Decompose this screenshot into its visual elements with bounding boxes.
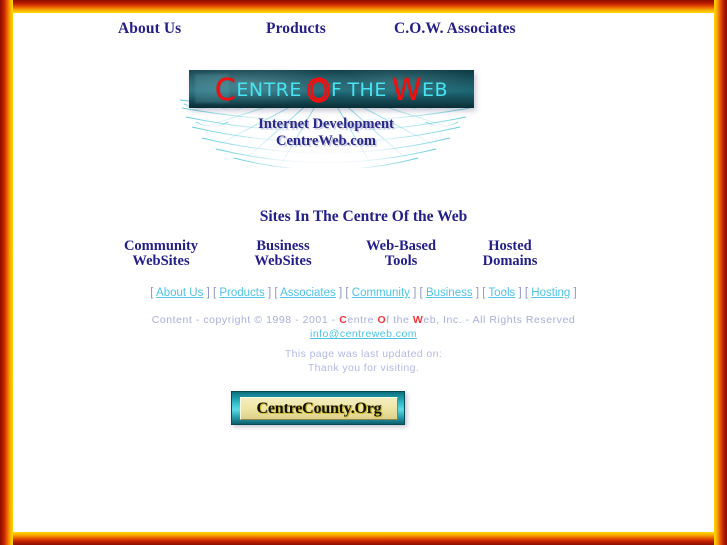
- page-content: About Us Products C.O.W. Associates: [13, 13, 714, 532]
- page-title: Sites In The Centre Of the Web: [13, 207, 714, 227]
- bracket-close: ]: [574, 287, 577, 299]
- copyright-text-3: f the: [386, 314, 413, 326]
- last-updated-text: This page was last updated on:: [13, 347, 714, 361]
- logo-tagline: Internet Development CentreWeb.com: [176, 116, 476, 150]
- copyright-text-1: Content - copyright © 1998 - 2001 -: [152, 314, 339, 326]
- category-label-line1: Community: [91, 239, 231, 254]
- footer-link-community[interactable]: Community: [352, 287, 410, 299]
- copyright-letter-o: O: [378, 314, 387, 326]
- bracket-close: ]: [476, 287, 479, 299]
- site-logo[interactable]: CENTREOFTHEWEB Internet Development Cent…: [176, 58, 476, 168]
- bracket-open: [: [420, 287, 423, 299]
- bracket-open: [: [150, 287, 153, 299]
- footer-link-hosting[interactable]: Hosting: [531, 287, 570, 299]
- logo-word-eb: EB: [422, 79, 448, 101]
- category-label-line2: WebSites: [91, 254, 231, 269]
- centrecounty-banner-plate: CentreCounty.Org: [240, 397, 398, 420]
- logo-tagline-line1: Internet Development: [176, 116, 476, 133]
- footer-link-products[interactable]: Products: [219, 287, 264, 299]
- bracket-close: ]: [268, 287, 271, 299]
- centrecounty-banner-link[interactable]: CentreCounty.Org: [231, 391, 405, 425]
- footer-link-business[interactable]: Business: [426, 287, 473, 299]
- email-link[interactable]: info@centreweb.com: [310, 328, 417, 340]
- top-navigation: About Us Products C.O.W. Associates: [13, 19, 714, 45]
- category-community-websites[interactable]: Community WebSites: [91, 239, 231, 269]
- logo-word-the: THE: [347, 79, 386, 101]
- bracket-open: [: [345, 287, 348, 299]
- last-updated-block: This page was last updated on: Thank you…: [13, 347, 714, 375]
- logo-wordmark: CENTREOFTHEWEB: [189, 71, 474, 109]
- logo-letter-w: W: [392, 76, 422, 106]
- nav-link-cow-associates[interactable]: C.O.W. Associates: [394, 19, 516, 39]
- footer-link-associates[interactable]: Associates: [280, 287, 336, 299]
- frame-border-right: [714, 0, 727, 545]
- category-list: Community WebSites Business WebSites Web…: [13, 239, 714, 275]
- bracket-close: ]: [518, 287, 521, 299]
- logo-letter-f: F: [331, 79, 342, 101]
- bracket-open: [: [525, 287, 528, 299]
- logo-word-entre: ENTRE: [236, 79, 302, 101]
- copyright-notice: Content - copyright © 1998 - 2001 - Cent…: [13, 312, 714, 328]
- category-label-line1: Hosted: [440, 239, 580, 254]
- footer-link-bar: [ About Us ] [ Products ] [ Associates ]…: [13, 286, 714, 301]
- copyright-text-4: eb, Inc. - All Rights Reserved: [423, 314, 575, 326]
- frame-border-left: [0, 0, 13, 545]
- logo-tagline-line2: CentreWeb.com: [176, 133, 476, 150]
- frame-border-bottom: [0, 532, 727, 545]
- logo-letter-o: O: [307, 74, 331, 109]
- bracket-open: [: [274, 287, 277, 299]
- copyright-text-2: entre: [347, 314, 377, 326]
- thank-you-text: Thank you for visiting.: [13, 361, 714, 375]
- category-label-line2: Domains: [440, 254, 580, 269]
- bracket-open: [: [213, 287, 216, 299]
- footer-link-about-us[interactable]: About Us: [156, 287, 203, 299]
- bracket-close: ]: [339, 287, 342, 299]
- centrecounty-banner-label: CentreCounty.Org: [257, 400, 382, 418]
- page-frame: About Us Products C.O.W. Associates: [0, 0, 727, 545]
- frame-border-top: [0, 0, 727, 13]
- contact-email-line: info@centreweb.com: [13, 327, 714, 342]
- nav-link-products[interactable]: Products: [266, 19, 326, 39]
- bracket-close: ]: [413, 287, 416, 299]
- footer-link-tools[interactable]: Tools: [488, 287, 515, 299]
- nav-link-about-us[interactable]: About Us: [118, 19, 181, 39]
- copyright-letter-w: W: [413, 314, 423, 326]
- bracket-open: [: [482, 287, 485, 299]
- bracket-close: ]: [207, 287, 210, 299]
- logo-letter-c: C: [215, 76, 236, 106]
- category-hosted-domains[interactable]: Hosted Domains: [440, 239, 580, 269]
